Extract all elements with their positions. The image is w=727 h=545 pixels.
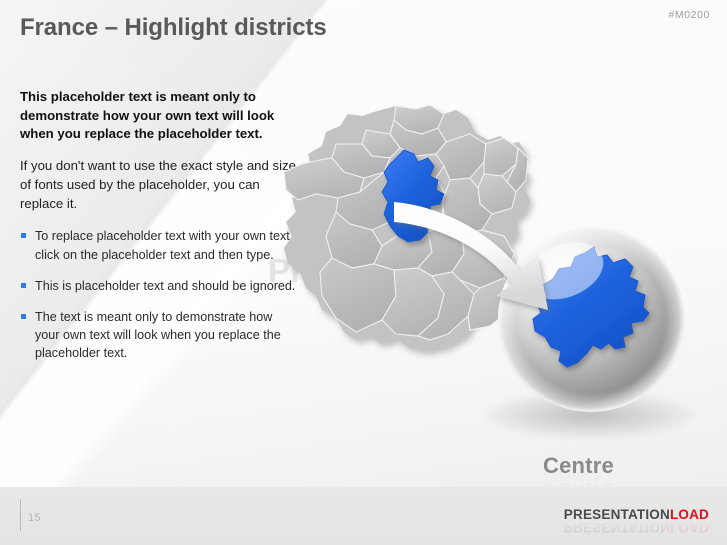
list-item-text: To replace placeholder text with your ow… xyxy=(35,229,293,261)
secondary-paragraph: If you don't want to use the exact style… xyxy=(20,157,296,213)
template-code-label: #M0200 xyxy=(668,9,710,21)
lead-paragraph: This placeholder text is meant only to d… xyxy=(20,88,296,144)
brand-name-part-2: LOAD xyxy=(670,507,709,522)
square-bullet-icon xyxy=(21,233,26,238)
page-title: France – Highlight districts xyxy=(20,14,327,42)
page-number: 15 xyxy=(28,512,41,524)
square-bullet-icon xyxy=(21,314,26,319)
list-item-text: This is placeholder text and should be i… xyxy=(35,279,295,293)
list-item: The text is meant only to demonstrate ho… xyxy=(20,308,296,362)
brand-name-part-1: PRESENTATION xyxy=(564,507,670,522)
list-item: This is placeholder text and should be i… xyxy=(20,277,296,295)
list-item: To replace placeholder text with your ow… xyxy=(20,227,296,263)
arrow-svg xyxy=(388,192,588,322)
list-item-text: The text is meant only to demonstrate ho… xyxy=(35,310,281,360)
arrow-shape xyxy=(394,202,548,310)
text-content-column: This placeholder text is meant only to d… xyxy=(20,88,296,362)
bullet-list: To replace placeholder text with your ow… xyxy=(20,227,296,362)
zoom-arrow xyxy=(388,192,588,322)
region-caption: Centre xyxy=(543,453,614,479)
slide-canvas: France – Highlight districts #M0200 PRES… xyxy=(0,0,727,545)
presentationload-logo[interactable]: PRESENTATIONLOAD xyxy=(564,507,709,522)
footer-divider xyxy=(20,499,21,531)
square-bullet-icon xyxy=(21,283,26,288)
